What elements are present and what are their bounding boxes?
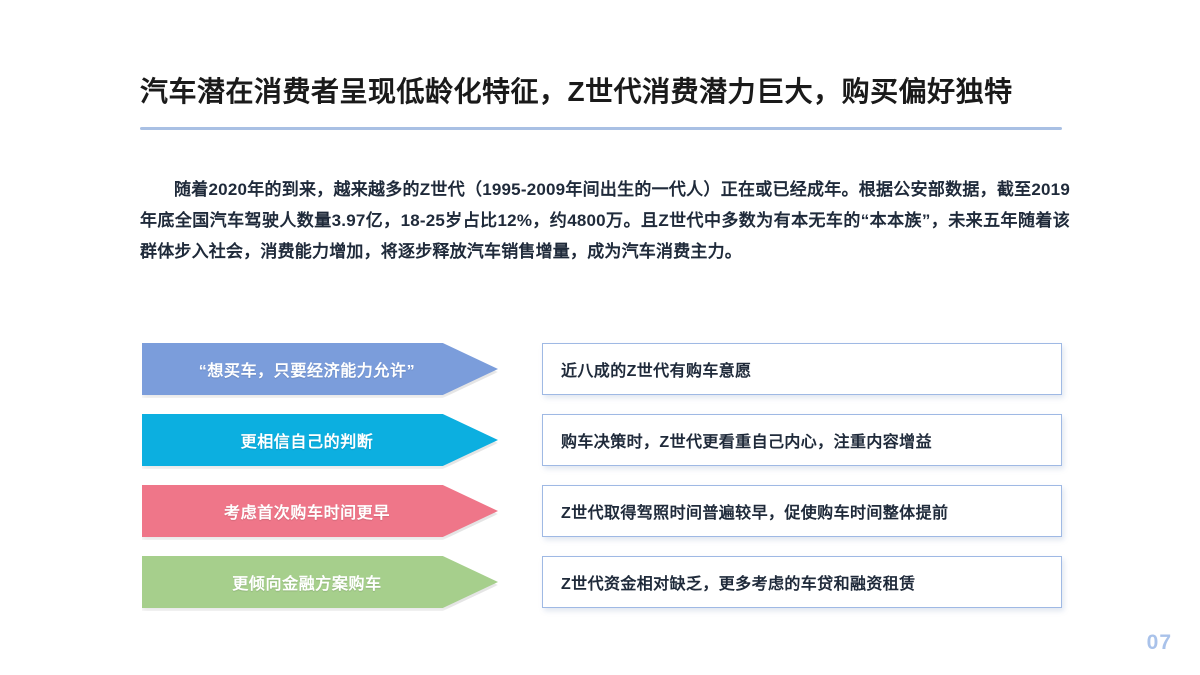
- insight-row: 考虑首次购车时间更早 Z世代取得驾照时间普遍较早，促使购车时间整体提前: [142, 485, 1072, 537]
- arrow-holder: 更倾向金融方案购车: [142, 556, 498, 608]
- detail-box-1[interactable]: 近八成的Z世代有购车意愿: [542, 343, 1062, 395]
- arrow-callout-2[interactable]: 更相信自己的判断: [142, 414, 498, 466]
- slide-canvas: 汽车潜在消费者呈现低龄化特征，Z世代消费潜力巨大，购买偏好独特 随着2020年的…: [0, 0, 1200, 675]
- arrow-holder: 考虑首次购车时间更早: [142, 485, 498, 537]
- arrow-callout-label: “想买车，只要经济能力允许”: [199, 357, 415, 381]
- arrow-holder: “想买车，只要经济能力允许”: [142, 343, 498, 395]
- detail-box-text: Z世代资金相对缺乏，更多考虑的车贷和融资租赁: [561, 570, 916, 594]
- arrow-holder: 更相信自己的判断: [142, 414, 498, 466]
- title-wrap: 汽车潜在消费者呈现低龄化特征，Z世代消费潜力巨大，购买偏好独特: [140, 74, 1065, 109]
- detail-box-2[interactable]: 购车决策时，Z世代更看重自己内心，注重内容增益: [542, 414, 1062, 466]
- page-title: 汽车潜在消费者呈现低龄化特征，Z世代消费潜力巨大，购买偏好独特: [140, 74, 1065, 109]
- page-number: 07: [1147, 631, 1172, 655]
- detail-box-4[interactable]: Z世代资金相对缺乏，更多考虑的车贷和融资租赁: [542, 556, 1062, 608]
- arrow-callout-4[interactable]: 更倾向金融方案购车: [142, 556, 498, 608]
- insight-row: “想买车，只要经济能力允许” 近八成的Z世代有购车意愿: [142, 343, 1072, 395]
- arrow-callout-label: 考虑首次购车时间更早: [224, 499, 390, 523]
- insight-rows: “想买车，只要经济能力允许” 近八成的Z世代有购车意愿 更相信自己的判断 购车决…: [142, 343, 1072, 608]
- arrow-callout-label: 更相信自己的判断: [241, 428, 374, 452]
- detail-box-text: Z世代取得驾照时间普遍较早，促使购车时间整体提前: [561, 499, 948, 523]
- intro-paragraph: 随着2020年的到来，越来越多的Z世代（1995-2009年间出生的一代人）正在…: [140, 174, 1070, 267]
- title-underline-divider: [140, 127, 1062, 130]
- arrow-callout-label: 更倾向金融方案购车: [232, 570, 381, 594]
- detail-box-text: 购车决策时，Z世代更看重自己内心，注重内容增益: [561, 428, 932, 452]
- insight-row: 更倾向金融方案购车 Z世代资金相对缺乏，更多考虑的车贷和融资租赁: [142, 556, 1072, 608]
- arrow-callout-1[interactable]: “想买车，只要经济能力允许”: [142, 343, 498, 395]
- detail-box-text: 近八成的Z世代有购车意愿: [561, 357, 752, 381]
- arrow-callout-3[interactable]: 考虑首次购车时间更早: [142, 485, 498, 537]
- insight-row: 更相信自己的判断 购车决策时，Z世代更看重自己内心，注重内容增益: [142, 414, 1072, 466]
- detail-box-3[interactable]: Z世代取得驾照时间普遍较早，促使购车时间整体提前: [542, 485, 1062, 537]
